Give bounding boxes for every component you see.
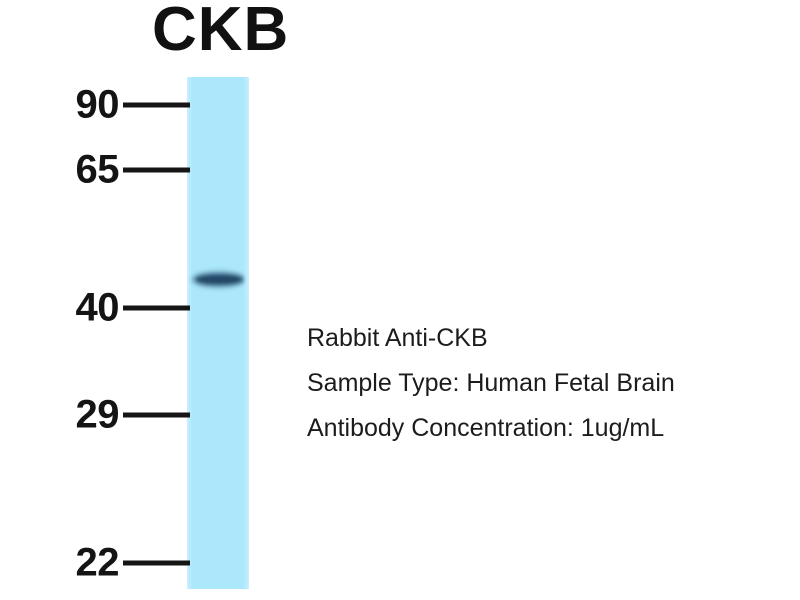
ckb-band-halo <box>191 270 246 289</box>
marker-tick-line <box>123 103 190 108</box>
annotation-line-2: Sample Type: Human Fetal Brain <box>307 361 777 406</box>
marker-label: 65 <box>76 148 120 193</box>
annotation-line-1: Rabbit Anti-CKB <box>307 316 777 361</box>
annotation-line-3: Antibody Concentration: 1ug/mL <box>307 406 777 451</box>
marker-tick-line <box>123 561 190 566</box>
marker-tick-line <box>123 306 190 311</box>
western-blot-figure: CKB 9065402922 Rabbit Anti-CKBSample Typ… <box>0 0 800 600</box>
marker-label: 22 <box>76 541 120 586</box>
gel-lane <box>187 77 249 589</box>
page-title: CKB <box>152 0 289 65</box>
marker-label: 29 <box>76 393 120 438</box>
marker-label: 40 <box>76 286 120 331</box>
annotation-block: Rabbit Anti-CKBSample Type: Human Fetal … <box>307 316 777 451</box>
marker-label: 90 <box>76 83 120 128</box>
marker-tick-line <box>123 413 190 418</box>
marker-tick-line <box>123 168 190 173</box>
